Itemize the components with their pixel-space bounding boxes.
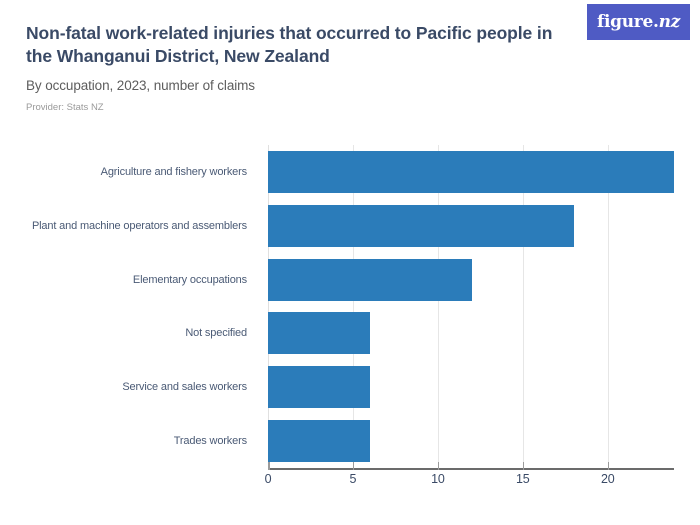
provider-text: Provider: Stats NZ [26,102,676,113]
category-label: Trades workers [174,435,247,447]
category-label-row: Elementary occupations [0,253,258,307]
chart-subtitle: By occupation, 2023, number of claims [26,78,676,93]
category-label: Agriculture and fishery workers [101,166,247,178]
plot-area [268,145,674,468]
category-label: Elementary occupations [133,274,247,286]
category-label: Not specified [185,327,247,339]
x-tick [353,462,355,470]
x-axis-ticks [268,462,674,470]
x-tick-label: 15 [516,472,530,486]
x-tick-label: 20 [601,472,615,486]
category-label-row: Service and sales workers [0,360,258,414]
chart-page: Non-fatal work-related injuries that occ… [0,0,700,525]
bar-row [268,145,674,199]
logo-text: figure.nz [597,12,680,32]
bar-row [268,306,674,360]
x-tick-label: 0 [265,472,272,486]
bar-rows [268,145,674,468]
figurenz-logo[interactable]: figure.nz [587,4,690,40]
x-tick-label: 5 [350,472,357,486]
x-tick-label: 10 [431,472,445,486]
bar[interactable] [268,205,574,247]
bar[interactable] [268,259,472,301]
bar-row [268,360,674,414]
x-tick [438,462,440,470]
y-axis-labels: Agriculture and fishery workersPlant and… [0,145,258,468]
bar-row [268,414,674,468]
category-label: Plant and machine operators and assemble… [32,220,247,232]
logo-text-italic: nz [659,12,680,32]
category-label-row: Plant and machine operators and assemble… [0,199,258,253]
bar-row [268,253,674,307]
x-axis-tick-labels: 05101520 [268,472,674,492]
bar[interactable] [268,151,674,193]
bar[interactable] [268,312,370,354]
category-label-row: Trades workers [0,414,258,468]
category-label-row: Not specified [0,306,258,360]
bar-chart: Agriculture and fishery workersPlant and… [0,140,700,525]
category-label: Service and sales workers [122,381,247,393]
page-title: Non-fatal work-related injuries that occ… [26,22,571,69]
bar-row [268,199,674,253]
bar[interactable] [268,420,370,462]
category-label-row: Agriculture and fishery workers [0,145,258,199]
x-tick [523,462,525,470]
logo-text-main: figure. [597,12,659,32]
bar[interactable] [268,366,370,408]
x-tick [268,462,270,470]
x-tick [608,462,610,470]
